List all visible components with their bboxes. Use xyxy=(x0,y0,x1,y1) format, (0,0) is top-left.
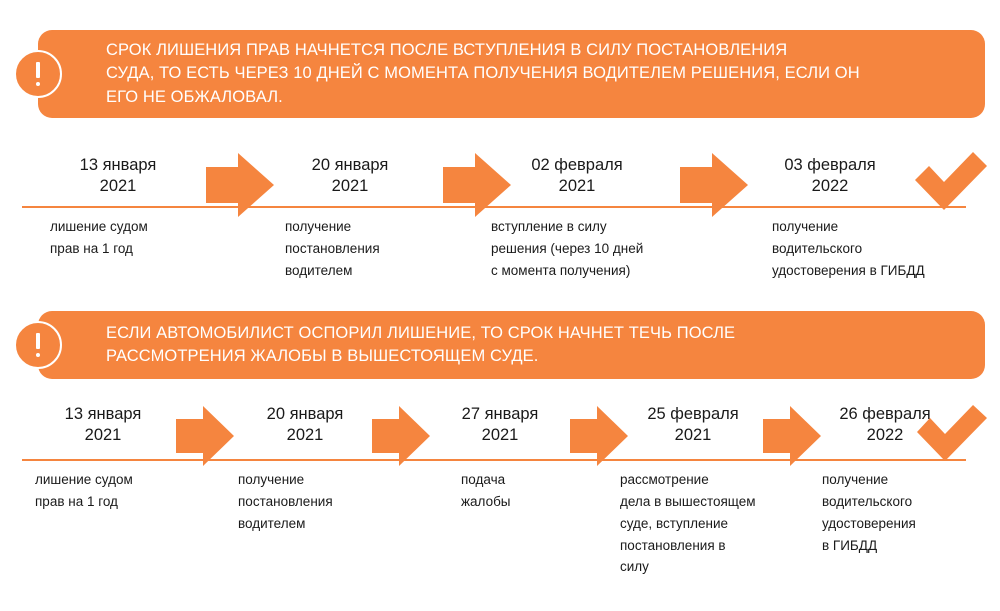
timeline-axis xyxy=(22,459,966,461)
desc-line: водительского xyxy=(822,491,1000,513)
desc-line: силу xyxy=(620,556,820,578)
exclamation-dot xyxy=(36,353,41,358)
desc-line: подача xyxy=(461,469,631,491)
date-day: 25 февраля xyxy=(647,405,738,423)
timeline-step-description: получение водительского удостоверения в … xyxy=(772,216,997,282)
desc-line: удостоверения xyxy=(822,513,1000,535)
timeline-step-description: лишение судом прав на 1 год xyxy=(35,469,205,513)
desc-line: прав на 1 год xyxy=(35,491,205,513)
timeline-step-description: лишение судом прав на 1 год xyxy=(50,216,225,260)
timeline-step-description: получение постановления водителем xyxy=(238,469,413,535)
banner-line: РАССМОТРЕНИЯ ЖАЛОБЫ В ВЫШЕСТОЯЩЕМ СУДЕ. xyxy=(106,345,735,368)
date-year: 2021 xyxy=(613,425,773,446)
date-day: 20 января xyxy=(267,405,344,423)
desc-line: получение xyxy=(822,469,1000,491)
timeline-arrow-icon xyxy=(372,406,430,466)
timeline-step-date: 13 января 2021 xyxy=(28,404,178,446)
timeline-arrow-icon xyxy=(176,406,234,466)
desc-line: суде, вступление xyxy=(620,513,820,535)
desc-line: постановления xyxy=(238,491,413,513)
desc-line: прав на 1 год xyxy=(50,238,225,260)
desc-line: с момента получения) xyxy=(491,260,711,282)
desc-line: удостоверения в ГИБДД xyxy=(772,260,997,282)
timeline-step: 20 января 2021 xyxy=(230,404,380,446)
timeline-step-date: 20 января 2021 xyxy=(230,404,380,446)
banner-line: ЕСЛИ АВТОМОБИЛИСТ ОСПОРИЛ ЛИШЕНИЕ, ТО СР… xyxy=(106,322,735,345)
date-day: 13 января xyxy=(65,405,142,423)
timeline-step-description: вступление в силу решения (через 10 дней… xyxy=(491,216,711,282)
date-year: 2021 xyxy=(230,425,380,446)
timeline-step-description: получение водительского удостоверения в … xyxy=(822,469,1000,556)
desc-line: в ГИБДД xyxy=(822,535,1000,557)
desc-line: получение xyxy=(285,216,465,238)
timeline-step-description: подача жалобы xyxy=(461,469,631,513)
timeline-step-description: рассмотрение дела в вышестоящем суде, вс… xyxy=(620,469,820,578)
timeline-step-description: получение постановления водителем xyxy=(285,216,465,282)
desc-line: водителем xyxy=(285,260,465,282)
desc-line: постановления в xyxy=(620,535,820,557)
callout-banner-2: ЕСЛИ АВТОМОБИЛИСТ ОСПОРИЛ ЛИШЕНИЕ, ТО СР… xyxy=(38,311,985,379)
desc-line: водительского xyxy=(772,238,997,260)
date-day: 27 января xyxy=(462,405,539,423)
desc-line: водителем xyxy=(238,513,413,535)
timeline-step: 13 января 2021 xyxy=(28,404,178,446)
check-icon xyxy=(917,405,987,463)
desc-line: постановления xyxy=(285,238,465,260)
exclamation-circle-icon xyxy=(14,321,62,369)
date-year: 2021 xyxy=(425,425,575,446)
timeline-step: 27 января 2021 xyxy=(425,404,575,446)
timeline-step-date: 27 января 2021 xyxy=(425,404,575,446)
timeline-step: 25 февраля 2021 xyxy=(613,404,773,446)
exclamation-bar xyxy=(36,333,40,349)
callout-banner-2-text: ЕСЛИ АВТОМОБИЛИСТ ОСПОРИЛ ЛИШЕНИЕ, ТО СР… xyxy=(38,322,753,369)
desc-line: получение xyxy=(772,216,997,238)
date-year: 2021 xyxy=(28,425,178,446)
desc-line: лишение судом xyxy=(50,216,225,238)
timeline-step-date: 25 февраля 2021 xyxy=(613,404,773,446)
timeline-with-appeal: 13 января 2021 лишение судом прав на 1 г… xyxy=(0,0,1000,200)
desc-line: жалобы xyxy=(461,491,631,513)
desc-line: решения (через 10 дней xyxy=(491,238,711,260)
infographic-page: СРОК ЛИШЕНИЯ ПРАВ НАЧНЕТСЯ ПОСЛЕ ВСТУПЛЕ… xyxy=(0,0,1000,611)
desc-line: дела в вышестоящем xyxy=(620,491,820,513)
desc-line: вступление в силу xyxy=(491,216,711,238)
desc-line: получение xyxy=(238,469,413,491)
desc-line: рассмотрение xyxy=(620,469,820,491)
desc-line: лишение судом xyxy=(35,469,205,491)
